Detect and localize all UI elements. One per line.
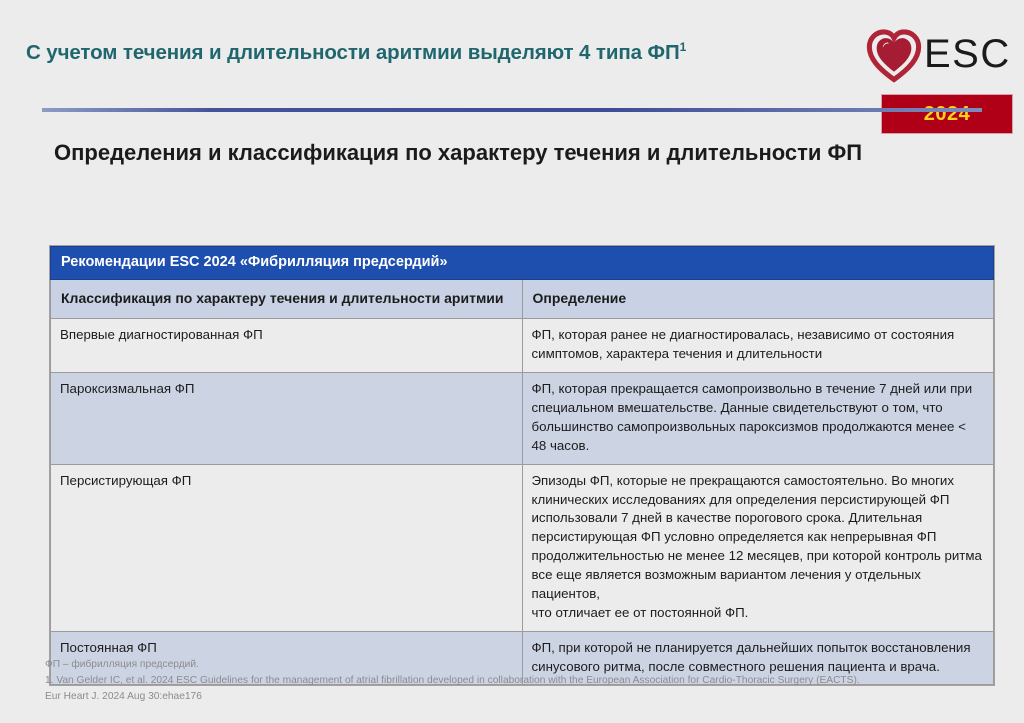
esc-logo: ESC [866,28,1016,86]
table-header-row: Классификация по характеру течения и дли… [51,279,994,319]
row-definition: ФП, которая ранее не диагностировалась, … [522,319,994,373]
year-badge: 2024 [881,94,1013,134]
table-banner-label: Рекомендации ESC 2024 «Фибрилляция предс… [51,247,994,280]
column-header-definition: Определение [522,279,994,319]
row-type: Пароксизмальная ФП [51,373,523,465]
esc-wordmark: ESC [924,32,1011,77]
table-row: Впервые диагностированная ФП ФП, которая… [51,319,994,373]
section-heading: Определения и классификация по характеру… [54,138,964,167]
classification-table: Рекомендации ESC 2024 «Фибрилляция предс… [49,245,995,686]
page-title: С учетом течения и длительности аритмии … [26,41,686,65]
table-row: Пароксизмальная ФП ФП, которая прекращае… [51,373,994,465]
slide: С учетом течения и длительности аритмии … [0,0,1024,723]
page-title-footnote-marker: 1 [680,40,687,54]
footnote-journal: Eur Heart J. 2024 Aug 30:ehae176 [45,689,1020,705]
table-row: Персистирующая ФП Эпизоды ФП, которые не… [51,464,994,631]
column-header-classification: Классификация по характеру течения и дли… [51,279,523,319]
footnote: ФП – фибрилляция предсердий. 1. Van Geld… [45,657,1020,704]
row-type: Персистирующая ФП [51,464,523,631]
page-title-text: С учетом течения и длительности аритмии … [26,41,680,64]
year-badge-label: 2024 [924,103,971,126]
table: Рекомендации ESC 2024 «Фибрилляция предс… [50,246,994,685]
header-divider [42,108,982,112]
footnote-citation: 1. Van Gelder IC, et al. 2024 ESC Guidel… [45,673,1020,689]
table-banner-row: Рекомендации ESC 2024 «Фибрилляция предс… [51,247,994,280]
row-definition: Эпизоды ФП, которые не прекращаются само… [522,464,994,631]
footnote-abbreviation: ФП – фибрилляция предсердий. [45,657,1020,673]
row-definition: ФП, которая прекращается самопроизвольно… [522,373,994,465]
heart-icon [866,28,922,84]
slide-header: С учетом течения и длительности аритмии … [0,0,1024,132]
row-type: Впервые диагностированная ФП [51,319,523,373]
